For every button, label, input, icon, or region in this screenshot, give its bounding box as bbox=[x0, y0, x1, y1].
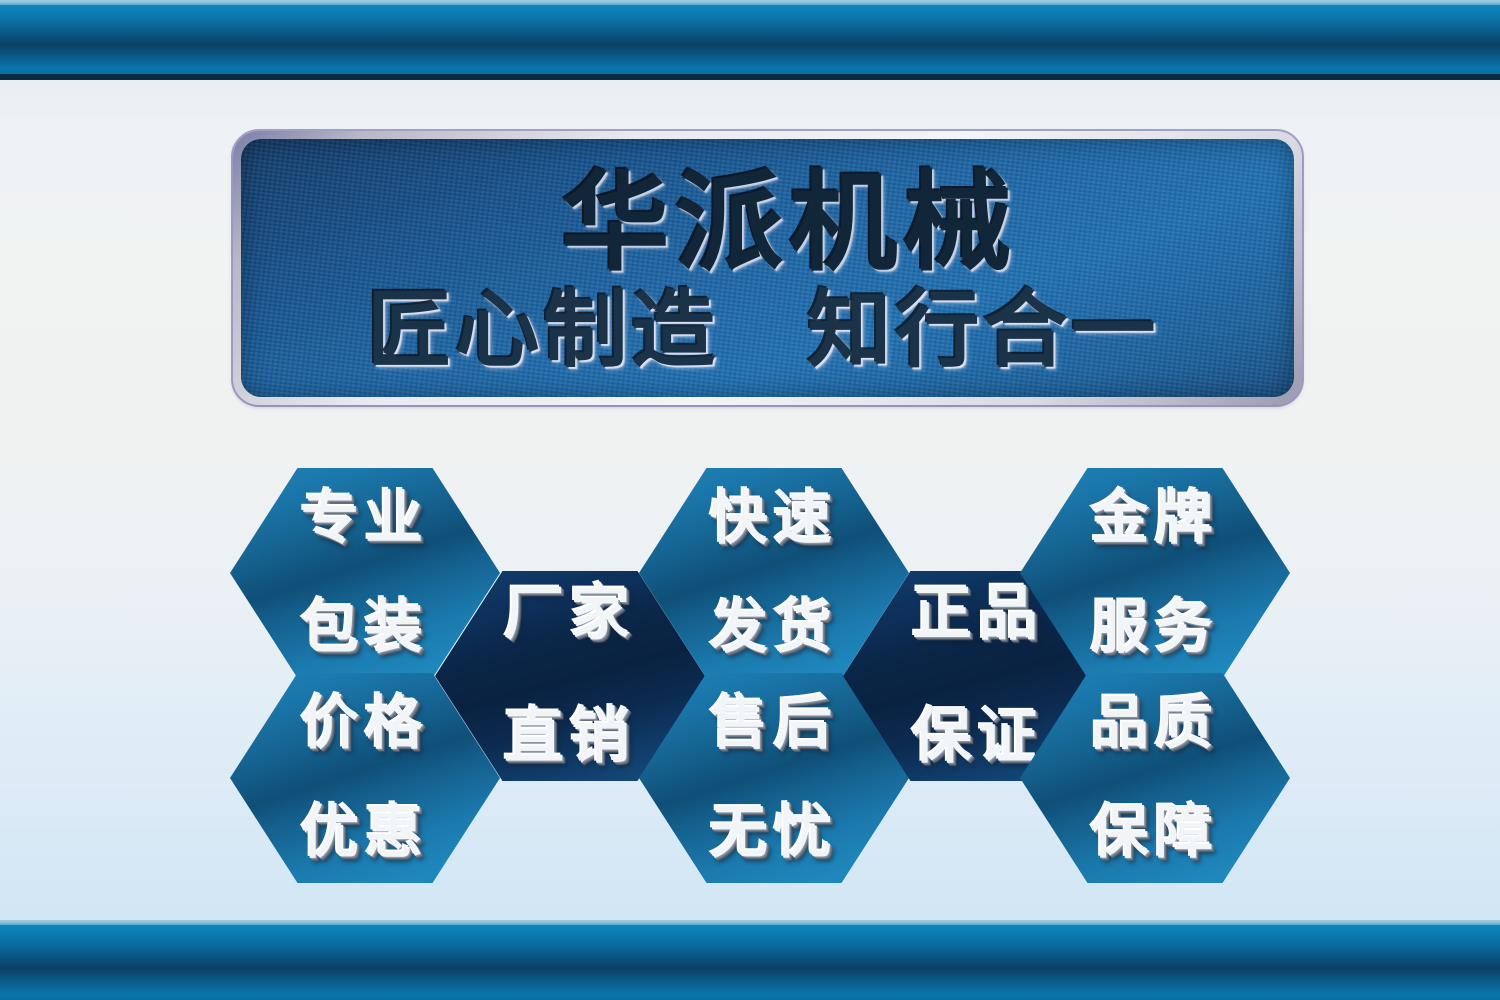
bottom-bar-body bbox=[0, 925, 1500, 1000]
hex-line-1: 专业 bbox=[301, 488, 429, 549]
hex-line-1: 品质 bbox=[1091, 693, 1219, 754]
hex-line-2: 包装 bbox=[301, 597, 429, 658]
hex-line-1: 厂家 bbox=[504, 583, 636, 646]
hex-line-2: 发货 bbox=[710, 597, 838, 658]
hex-line-2: 服务 bbox=[1091, 597, 1219, 658]
promo-banner-canvas: 华派机械 匠心制造 知行合一 专业 包装 价格 优惠 厂家 直销 快速 发货 售… bbox=[0, 0, 1500, 1000]
hex-line-1: 正品 bbox=[912, 583, 1044, 646]
hex-line-2: 保证 bbox=[912, 706, 1044, 769]
hex-line-1: 金牌 bbox=[1091, 488, 1219, 549]
hexagon-feature-grid: 专业 包装 价格 优惠 厂家 直销 快速 发货 售后 无忧 正品 保证 金牌 服… bbox=[0, 0, 1500, 1000]
bottom-decorative-bar bbox=[0, 920, 1500, 1000]
hex-line-2: 优惠 bbox=[301, 802, 429, 863]
hex-line-1: 快速 bbox=[710, 488, 838, 549]
hex-line-2: 直销 bbox=[504, 706, 636, 769]
hex-line-1: 价格 bbox=[301, 693, 429, 754]
hex-line-2: 保障 bbox=[1091, 802, 1219, 863]
hex-line-2: 无忧 bbox=[710, 802, 838, 863]
hex-line-1: 售后 bbox=[710, 693, 838, 754]
